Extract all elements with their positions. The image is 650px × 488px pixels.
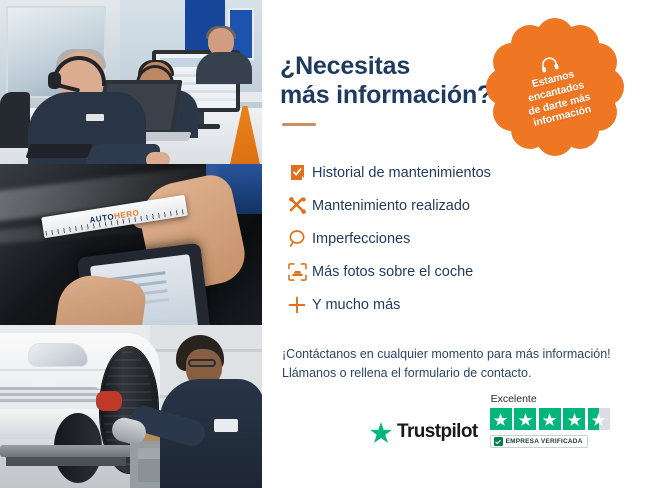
laptop-keyboard [91, 132, 192, 141]
trustpilot-stars [490, 408, 610, 430]
clipboard-check-icon [282, 163, 312, 182]
window-shape [6, 6, 106, 98]
tablet-text-lines [100, 271, 166, 282]
list-item-label: Historial de mantenimientos [312, 165, 491, 181]
list-item: Historial de mantenimientos [282, 156, 650, 189]
grille-shape [0, 387, 102, 403]
inspector-hand [134, 171, 250, 297]
feature-list: Historial de mantenimientos Mantenimient… [282, 156, 650, 321]
measuring-ruler: AUTOHERO [41, 195, 187, 238]
car-lift-base [6, 457, 126, 466]
white-car-body [0, 333, 160, 451]
title-line-1: ¿Necesitas [280, 52, 410, 80]
tools-cross-icon [282, 196, 312, 215]
hood-line [0, 369, 142, 371]
list-item-label: Mantenimiento realizado [312, 198, 470, 214]
front-tire-shape [100, 347, 158, 473]
trustpilot-rating-label: Excelente [491, 393, 537, 405]
tool-in-hand-shape [96, 391, 122, 411]
headset-earcup-shape [48, 72, 61, 89]
title-divider [282, 123, 316, 126]
second-agent [122, 62, 198, 132]
head-shape [140, 62, 172, 97]
workbench [130, 432, 262, 488]
trustpilot-star-icon [370, 422, 392, 443]
tool-drawer [138, 448, 198, 482]
contact-line-2: Llámanos o rellena el formulario de cont… [282, 364, 650, 383]
photo-backdrop-right [120, 0, 262, 164]
ruler-brand-part1: AUTO [89, 212, 115, 225]
trustpilot-wordmark: Trustpilot [397, 421, 478, 443]
mechanic-figure [160, 335, 262, 488]
head-shape [58, 52, 104, 102]
name-badge-shape [86, 114, 104, 121]
name-badge-shape [214, 419, 238, 432]
headset-band-shape [52, 56, 106, 86]
wall-poster [228, 8, 254, 60]
monitor-toolbar [160, 58, 238, 67]
laptop-screen [101, 84, 178, 130]
torso-shape [196, 52, 252, 84]
verified-check-icon [494, 437, 503, 446]
headlight-shape [28, 343, 88, 367]
hair-shape [138, 60, 174, 76]
monitor-stand [188, 112, 204, 126]
back-desk-surface [96, 92, 262, 102]
autohero-ruler-logo: AUTOHERO [89, 208, 140, 225]
contact-line-1: ¡Contáctanos en cualquier momento para m… [282, 345, 650, 364]
tire-tread-shape [104, 351, 152, 469]
office-chair [0, 92, 30, 148]
verified-company-badge: EMPRESA VERIFICADA [490, 435, 588, 448]
foreground-agent [28, 52, 146, 164]
tablet-screen [90, 254, 199, 325]
list-item: Más fotos sobre el coche [282, 255, 650, 288]
hand-holding-tablet [54, 271, 148, 325]
hand-shape [146, 152, 170, 164]
content-panel: ¿Necesitas más información? [262, 0, 650, 488]
head-shape [186, 349, 222, 387]
trustpilot-widget[interactable]: Trustpilot Excelente [370, 393, 610, 448]
badge-text: Estamos encantados de darte más informac… [521, 66, 595, 131]
ruler-brand-part2: HERO [114, 208, 141, 221]
list-item-label: Imperfecciones [312, 231, 410, 247]
mechanic-tire-check-photo [0, 325, 262, 488]
torso-shape [28, 92, 146, 164]
promo-banner: AUTOHERO [0, 0, 650, 488]
verified-company-label: EMPRESA VERIFICADA [506, 438, 583, 445]
star-filled [563, 408, 585, 430]
blue-reflection [206, 164, 262, 214]
torso-shape [122, 90, 198, 138]
headset-shape [136, 65, 174, 85]
photo-column: AUTOHERO [0, 0, 262, 488]
star-filled [490, 408, 512, 430]
list-item: Imperfecciones [282, 222, 650, 255]
star-half [588, 408, 610, 430]
monitor-content-rows [162, 74, 236, 77]
monitor-icon [152, 50, 240, 112]
ruler-ticks [45, 209, 185, 236]
finger-shape [131, 203, 178, 230]
desk-tablet-shape [25, 144, 92, 158]
arm-shape [86, 144, 160, 164]
safety-glasses-shape [188, 359, 216, 367]
license-plate-shape [30, 377, 60, 385]
tail-light-shape [185, 232, 246, 281]
traffic-cone-shape [230, 106, 260, 164]
background-person [196, 28, 252, 76]
contact-text: ¡Contáctanos en cualquier momento para m… [282, 345, 650, 384]
work-glove-shape [110, 415, 149, 447]
tablet-device [77, 243, 211, 325]
workshop-wall [150, 325, 262, 445]
hair-shape [206, 26, 236, 39]
laptop-shape [96, 80, 183, 136]
blue-wall-panel [185, 0, 225, 78]
list-item: Y mucho más [282, 288, 650, 321]
hair-shape [56, 49, 106, 69]
car-lift-arm [0, 445, 150, 457]
trustpilot-logo: Trustpilot [370, 421, 478, 448]
monitor-base [174, 124, 220, 129]
car-frame-icon [282, 263, 312, 281]
list-item-label: Más fotos sobre el coche [312, 264, 473, 280]
star-filled [514, 408, 536, 430]
rear-tire-shape [54, 413, 102, 483]
car-inspection-ruler-photo: AUTOHERO [0, 164, 262, 325]
desk-surface [0, 108, 262, 164]
list-item-label: Y mucho más [312, 297, 400, 313]
arm-shape [128, 403, 208, 449]
hair-shape [176, 335, 224, 371]
magnifier-icon [282, 229, 312, 248]
headset-mic-shape [58, 83, 80, 92]
head-shape [208, 28, 234, 56]
workshop-background [0, 325, 262, 488]
list-item: Mantenimiento realizado [282, 189, 650, 222]
wall-shelf [150, 349, 262, 352]
photo-backdrop-left [0, 0, 120, 164]
bumper-shape [0, 409, 122, 439]
torso-shape [160, 379, 262, 488]
star-filled [539, 408, 561, 430]
body-highlight-secondary [0, 213, 190, 244]
plus-icon [282, 296, 312, 314]
dark-car-body [0, 164, 262, 325]
promo-badge: Estamos encantados de darte más informac… [494, 26, 616, 148]
call-center-agents-photo [0, 0, 262, 164]
body-highlight [0, 164, 221, 222]
